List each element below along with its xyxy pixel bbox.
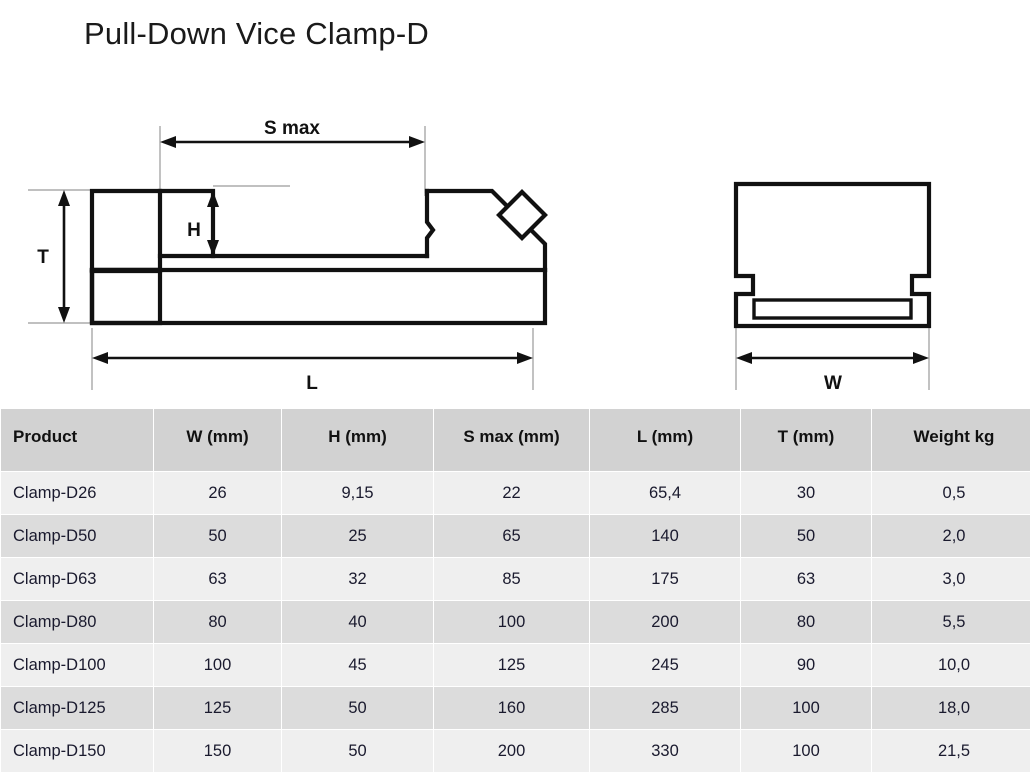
cell-product: Clamp-D80 bbox=[1, 601, 153, 643]
cell-l: 175 bbox=[590, 558, 740, 600]
cell-product: Clamp-D50 bbox=[1, 515, 153, 557]
table-row: Clamp-D1501505020033010021,5 bbox=[1, 730, 1030, 772]
column-header-weight: Weight kg bbox=[872, 409, 1030, 471]
cell-weight: 0,5 bbox=[872, 472, 1030, 514]
cell-s-max: 160 bbox=[434, 687, 589, 729]
dimension-h: H bbox=[187, 191, 219, 256]
cell-h: 32 bbox=[282, 558, 433, 600]
cell-h: 50 bbox=[282, 687, 433, 729]
table-row: Clamp-D808040100200805,5 bbox=[1, 601, 1030, 643]
product-specification-table: Product W (mm) H (mm) S max (mm) L (mm) … bbox=[0, 408, 1030, 773]
cell-t: 50 bbox=[741, 515, 871, 557]
cell-product: Clamp-D150 bbox=[1, 730, 153, 772]
table-row: Clamp-D50502565140502,0 bbox=[1, 515, 1030, 557]
clamp-screw-head bbox=[499, 192, 545, 238]
cell-h: 45 bbox=[282, 644, 433, 686]
cell-s-max: 65 bbox=[434, 515, 589, 557]
dimension-t: T bbox=[37, 190, 70, 323]
cell-w: 125 bbox=[154, 687, 281, 729]
cell-weight: 3,0 bbox=[872, 558, 1030, 600]
cell-w: 150 bbox=[154, 730, 281, 772]
cell-t: 100 bbox=[741, 687, 871, 729]
cell-weight: 18,0 bbox=[872, 687, 1030, 729]
cell-h: 25 bbox=[282, 515, 433, 557]
cell-h: 40 bbox=[282, 601, 433, 643]
cell-t: 80 bbox=[741, 601, 871, 643]
cell-l: 140 bbox=[590, 515, 740, 557]
cell-l: 330 bbox=[590, 730, 740, 772]
dimension-l: L bbox=[92, 352, 533, 394]
dimension-s-max: S max bbox=[160, 118, 425, 148]
cell-s-max: 22 bbox=[434, 472, 589, 514]
cell-t: 63 bbox=[741, 558, 871, 600]
side-view-group: S max H T bbox=[28, 118, 545, 394]
cell-weight: 2,0 bbox=[872, 515, 1030, 557]
cell-l: 200 bbox=[590, 601, 740, 643]
cell-l: 65,4 bbox=[590, 472, 740, 514]
dimension-label-l: L bbox=[306, 373, 318, 394]
dimension-label-h: H bbox=[187, 220, 201, 241]
table-row: Clamp-D63633285175633,0 bbox=[1, 558, 1030, 600]
cell-s-max: 100 bbox=[434, 601, 589, 643]
dimension-label-s-max: S max bbox=[264, 118, 320, 139]
cell-t: 100 bbox=[741, 730, 871, 772]
cell-l: 285 bbox=[590, 687, 740, 729]
dimension-label-t: T bbox=[37, 247, 49, 268]
cell-s-max: 85 bbox=[434, 558, 589, 600]
cell-w: 63 bbox=[154, 558, 281, 600]
dimension-label-w: W bbox=[824, 373, 842, 394]
table-header-row: Product W (mm) H (mm) S max (mm) L (mm) … bbox=[1, 409, 1030, 471]
cell-w: 100 bbox=[154, 644, 281, 686]
column-header-h: H (mm) bbox=[282, 409, 433, 471]
cell-product: Clamp-D63 bbox=[1, 558, 153, 600]
page-title: Pull-Down Vice Clamp-D bbox=[84, 16, 429, 52]
cell-s-max: 125 bbox=[434, 644, 589, 686]
cell-h: 50 bbox=[282, 730, 433, 772]
column-header-s-max: S max (mm) bbox=[434, 409, 589, 471]
cell-weight: 5,5 bbox=[872, 601, 1030, 643]
front-inner-slot bbox=[754, 300, 911, 318]
column-header-product: Product bbox=[1, 409, 153, 471]
cell-weight: 10,0 bbox=[872, 644, 1030, 686]
front-view-group: W bbox=[736, 184, 929, 394]
cell-product: Clamp-D125 bbox=[1, 687, 153, 729]
technical-drawing: S max H T bbox=[0, 78, 1030, 400]
cell-product: Clamp-D26 bbox=[1, 472, 153, 514]
cell-t: 30 bbox=[741, 472, 871, 514]
vice-body-outline bbox=[92, 270, 160, 323]
cell-product: Clamp-D100 bbox=[1, 644, 153, 686]
column-header-w: W (mm) bbox=[154, 409, 281, 471]
dimension-w: W bbox=[736, 352, 929, 394]
table-row: Clamp-D100100451252459010,0 bbox=[1, 644, 1030, 686]
cell-weight: 21,5 bbox=[872, 730, 1030, 772]
cell-w: 26 bbox=[154, 472, 281, 514]
cell-s-max: 200 bbox=[434, 730, 589, 772]
cell-h: 9,15 bbox=[282, 472, 433, 514]
table-row: Clamp-D26269,152265,4300,5 bbox=[1, 472, 1030, 514]
column-header-l: L (mm) bbox=[590, 409, 740, 471]
cell-t: 90 bbox=[741, 644, 871, 686]
table-row: Clamp-D1251255016028510018,0 bbox=[1, 687, 1030, 729]
cell-w: 50 bbox=[154, 515, 281, 557]
cell-l: 245 bbox=[590, 644, 740, 686]
column-header-t: T (mm) bbox=[741, 409, 871, 471]
cell-w: 80 bbox=[154, 601, 281, 643]
